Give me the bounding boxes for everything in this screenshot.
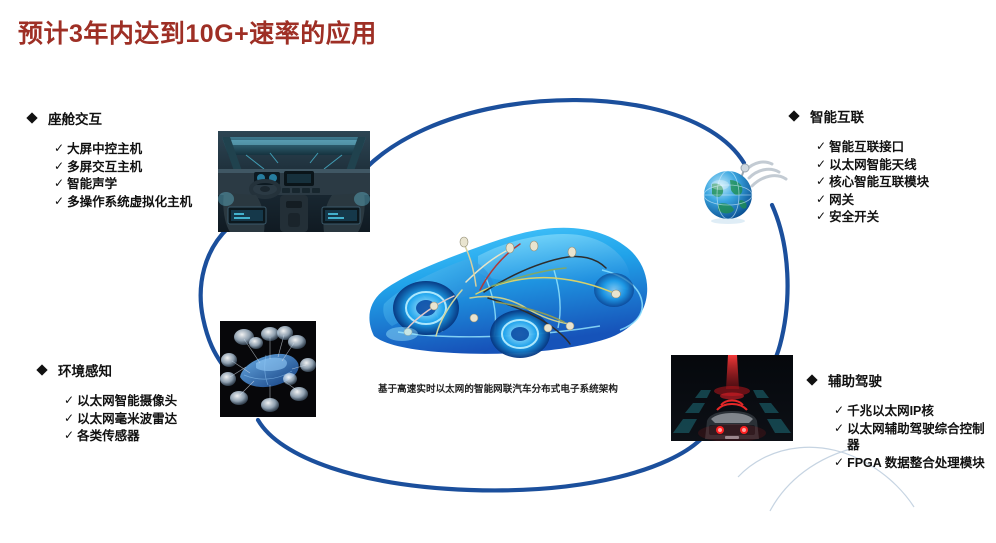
list-item-label: 以太网智能摄像头 — [77, 393, 177, 410]
list-item-label: 智能互联接口 — [829, 139, 904, 156]
block-connectivity-list: ✓ 智能互联接口 ✓ 以太网智能天线 ✓ 核心智能互联模块 ✓ 网关 ✓ 安全开… — [790, 139, 990, 226]
block-environment: 环境感知 ✓ 以太网智能摄像头 ✓ 以太网毫米波雷达 ✓ 各类传感器 — [38, 360, 238, 446]
diamond-bullet-icon — [806, 374, 817, 385]
check-icon: ✓ — [64, 411, 74, 427]
check-icon: ✓ — [834, 403, 844, 419]
check-icon: ✓ — [834, 421, 844, 437]
block-cockpit: 座舱交互 ✓ 大屏中控主机 ✓ 多屏交互主机 ✓ 智能声学 ✓ 多操作系统虚拟化… — [28, 108, 228, 211]
list-item: ✓ 智能声学 — [54, 176, 228, 193]
list-item-label: 千兆以太网IP核 — [847, 403, 934, 420]
list-item-label: 网关 — [829, 192, 854, 209]
diamond-bullet-icon — [788, 110, 799, 121]
block-connectivity: 智能互联 ✓ 智能互联接口 ✓ 以太网智能天线 ✓ 核心智能互联模块 ✓ 网关 … — [790, 106, 990, 227]
block-environment-heading-text: 环境感知 — [58, 360, 112, 380]
block-adas-list: ✓ 千兆以太网IP核 ✓ 以太网辅助驾驶综合控制器 ✓ FPGA 数据整合处理模… — [808, 403, 988, 471]
list-item: ✓ 各类传感器 — [64, 428, 238, 445]
check-icon: ✓ — [816, 157, 826, 173]
block-connectivity-heading-text: 智能互联 — [810, 106, 864, 126]
list-item-label: 各类传感器 — [77, 428, 140, 445]
list-item: ✓ 网关 — [816, 192, 990, 209]
check-icon: ✓ — [54, 141, 64, 157]
block-environment-list: ✓ 以太网智能摄像头 ✓ 以太网毫米波雷达 ✓ 各类传感器 — [38, 393, 238, 445]
block-adas-heading: 辅助驾驶 — [808, 370, 988, 390]
list-item: ✓ FPGA 数据整合处理模块 — [834, 455, 988, 472]
list-item: ✓ 以太网辅助驾驶综合控制器 — [834, 421, 988, 454]
list-item: ✓ 多屏交互主机 — [54, 159, 228, 176]
page-title: 预计3年内达到10G+速率的应用 — [18, 14, 377, 50]
list-item-label: FPGA 数据整合处理模块 — [847, 455, 985, 472]
check-icon: ✓ — [54, 194, 64, 210]
check-icon: ✓ — [816, 139, 826, 155]
check-icon: ✓ — [816, 174, 826, 190]
list-item-label: 大屏中控主机 — [67, 141, 142, 158]
list-item-label: 以太网毫米波雷达 — [77, 411, 177, 428]
list-item-label: 多屏交互主机 — [67, 159, 142, 176]
list-item: ✓ 多操作系统虚拟化主机 — [54, 194, 228, 211]
list-item: ✓ 以太网智能天线 — [816, 157, 990, 174]
list-item-label: 以太网智能天线 — [829, 157, 917, 174]
cockpit-interior-photo — [218, 131, 370, 232]
block-environment-heading: 环境感知 — [38, 360, 238, 380]
block-cockpit-heading: 座舱交互 — [28, 108, 228, 128]
slide-canvas: 预计3年内达到10G+速率的应用 — [0, 0, 996, 543]
list-item: ✓ 大屏中控主机 — [54, 141, 228, 158]
list-item: ✓ 以太网毫米波雷达 — [64, 411, 238, 428]
check-icon: ✓ — [64, 428, 74, 444]
globe-antenna-icon — [690, 140, 790, 225]
check-icon: ✓ — [54, 159, 64, 175]
block-adas: 辅助驾驶 ✓ 千兆以太网IP核 ✓ 以太网辅助驾驶综合控制器 ✓ FPGA 数据… — [808, 370, 988, 472]
list-item-label: 核心智能互联模块 — [829, 174, 929, 191]
xray-car-illustration — [358, 186, 658, 381]
block-adas-heading-text: 辅助驾驶 — [828, 370, 882, 390]
block-cockpit-list: ✓ 大屏中控主机 ✓ 多屏交互主机 ✓ 智能声学 ✓ 多操作系统虚拟化主机 — [28, 141, 228, 210]
list-item: ✓ 核心智能互联模块 — [816, 174, 990, 191]
check-icon: ✓ — [834, 455, 844, 471]
block-connectivity-heading: 智能互联 — [790, 106, 990, 126]
center-caption: 基于高速实时以太网的智能网联汽车分布式电子系统架构 — [363, 381, 633, 395]
list-item-label: 安全开关 — [829, 209, 879, 226]
list-item-label: 多操作系统虚拟化主机 — [67, 194, 192, 211]
diamond-bullet-icon — [36, 364, 47, 375]
check-icon: ✓ — [816, 209, 826, 225]
list-item: ✓ 安全开关 — [816, 209, 990, 226]
list-item: ✓ 千兆以太网IP核 — [834, 403, 988, 420]
list-item-label: 智能声学 — [67, 176, 117, 193]
block-cockpit-heading-text: 座舱交互 — [48, 108, 102, 128]
check-icon: ✓ — [816, 192, 826, 208]
check-icon: ✓ — [54, 176, 64, 192]
list-item: ✓ 智能互联接口 — [816, 139, 990, 156]
diamond-bullet-icon — [26, 112, 37, 123]
list-item: ✓ 以太网智能摄像头 — [64, 393, 238, 410]
check-icon: ✓ — [64, 393, 74, 409]
list-item-label: 以太网辅助驾驶综合控制器 — [847, 421, 988, 454]
adas-night-road-photo — [671, 355, 793, 441]
